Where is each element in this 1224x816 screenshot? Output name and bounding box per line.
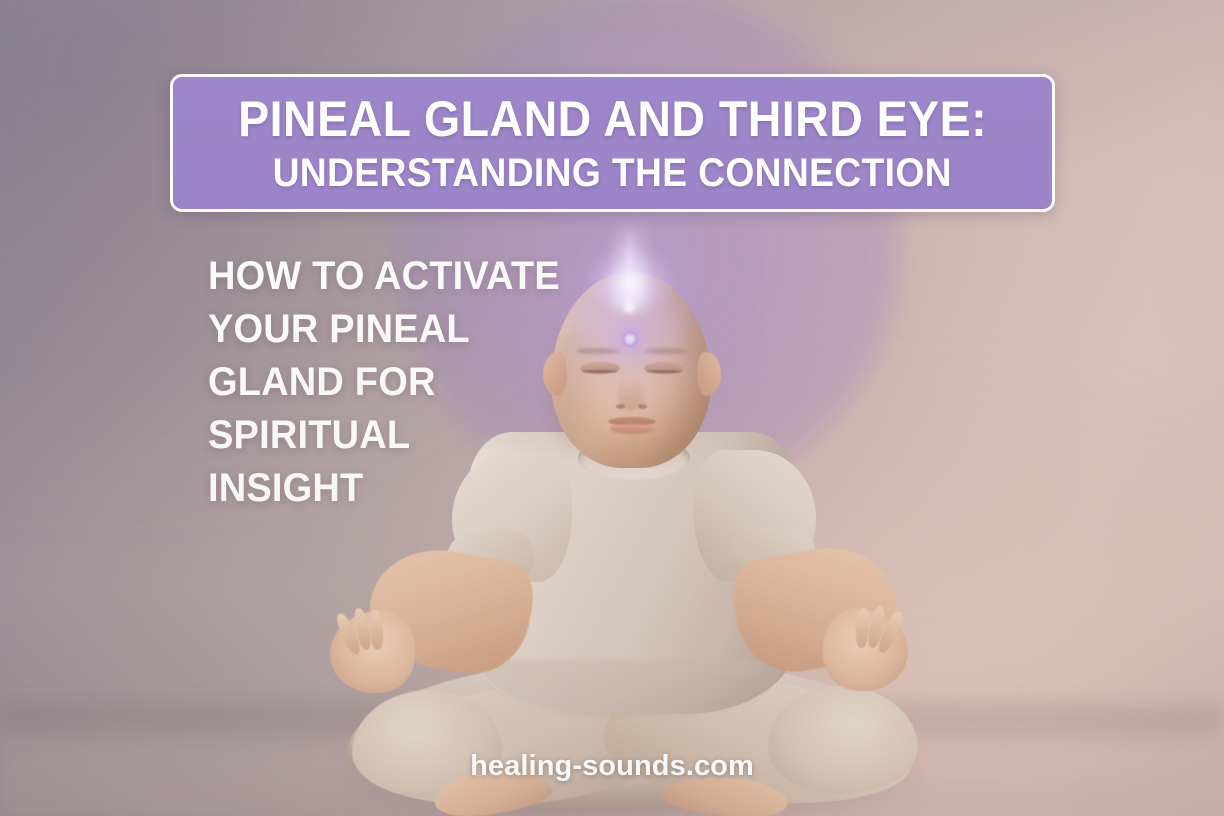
- crown-light-flare: [588, 248, 672, 304]
- chin: [604, 440, 660, 462]
- subtitle-headline: HOW TO ACTIVATE YOUR PINEAL GLAND FOR SP…: [208, 250, 569, 515]
- banner-title-line-2: UNDERSTANDING THE CONNECTION: [273, 153, 952, 193]
- title-banner: PINEAL GLAND AND THIRD EYE: UNDERSTANDIN…: [170, 74, 1055, 212]
- banner-title-line-1: PINEAL GLAND AND THIRD EYE:: [238, 94, 987, 144]
- lower-lip: [610, 424, 654, 434]
- site-watermark: healing-sounds.com: [0, 752, 1224, 781]
- hero-banner-image: PINEAL GLAND AND THIRD EYE: UNDERSTANDIN…: [0, 0, 1224, 816]
